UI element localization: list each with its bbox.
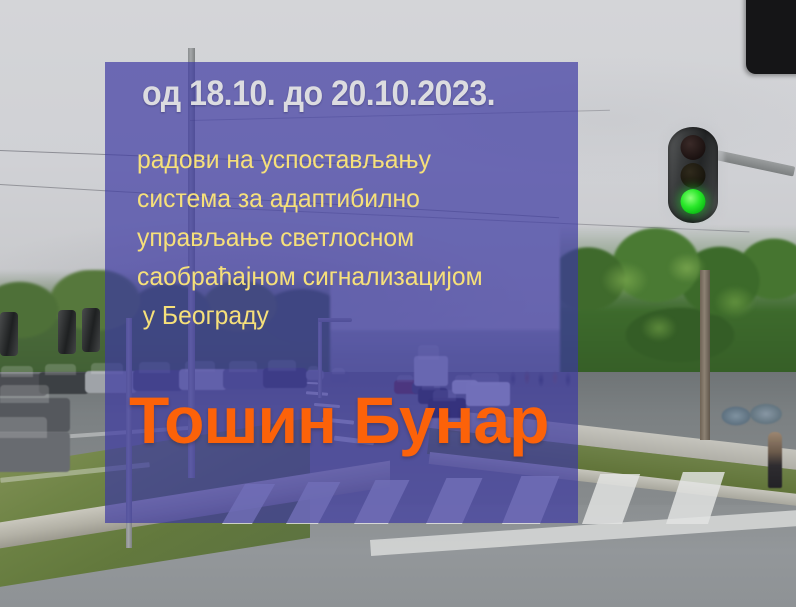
overlay-body-line-5: у Београду [137,296,546,335]
top-right-black-panel [746,0,796,74]
traffic-light-small [58,310,76,354]
overlay-body-line-2: система за адаптибилно [137,179,546,218]
overlay-location-headline: Тошин Бунар [129,382,548,458]
pedestrian [768,432,782,488]
overlay-body-line-3: управљање светлосном [137,218,546,257]
traffic-light-green-lamp [681,189,706,214]
overlay-body-line-4: саобраћајном сигнализацијом [137,257,546,296]
traffic-light-small [82,308,100,352]
refuse-bags [720,400,792,428]
traffic-light-small [0,312,18,356]
traffic-light-amber-lamp [681,163,706,188]
info-overlay-panel: од 18.10. до 20.10.2023. радови на успос… [105,62,578,523]
overlay-date-range: од 18.10. до 20.10.2023. [142,74,495,114]
utility-pole-right [700,270,710,440]
tree-highlights [595,250,775,370]
screenshot-canvas: од 18.10. до 20.10.2023. радови на успос… [0,0,796,607]
traffic-light-red-lamp [681,135,706,160]
traffic-light[interactable] [668,127,718,223]
vehicle-foreground-left [0,432,70,472]
overlay-body-line-1: радови на успостављању [137,140,546,179]
overlay-body-text: радови на успостављању система за адапти… [137,140,546,335]
